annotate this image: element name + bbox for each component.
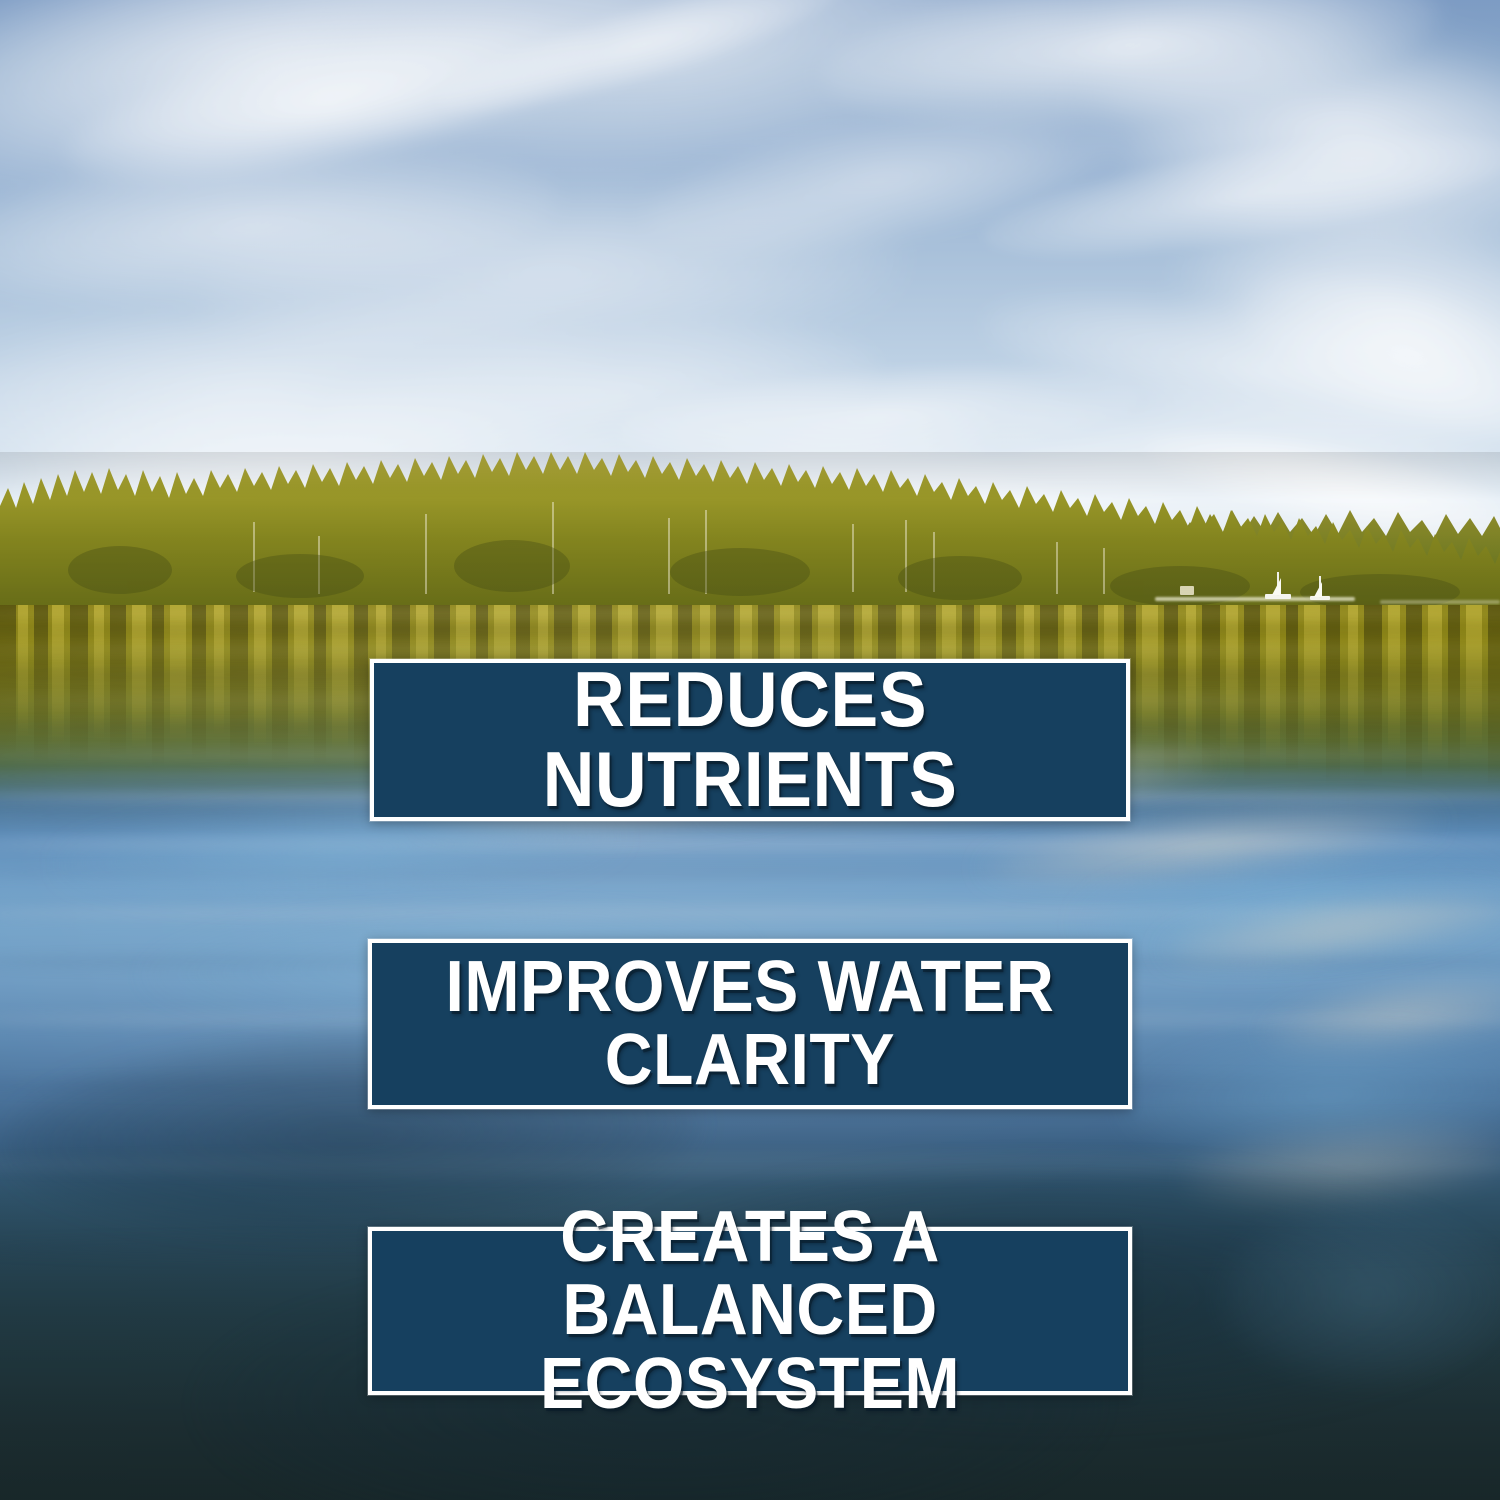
forest-treeline <box>0 452 1500 610</box>
callout-creates-a-balanced-ecosystem: CREATES A BALANCED ECOSYSTEM <box>368 1227 1132 1395</box>
far-shore-strip-2 <box>1380 600 1500 604</box>
callout-improves-water-clarity: IMPROVES WATER CLARITY <box>368 939 1132 1109</box>
callout-label-improves-water-clarity: IMPROVES WATER CLARITY <box>433 951 1068 1098</box>
callout-label-creates-a-balanced-ecosystem: CREATES A BALANCED ECOSYSTEM <box>402 1201 1098 1421</box>
image-canvas: REDUCES NUTRIENTS IMPROVES WATER CLARITY… <box>0 0 1500 1500</box>
callout-reduces-nutrients: REDUCES NUTRIENTS <box>370 659 1130 821</box>
callout-label-reduces-nutrients: REDUCES NUTRIENTS <box>404 660 1096 819</box>
shore-building <box>1180 586 1194 595</box>
